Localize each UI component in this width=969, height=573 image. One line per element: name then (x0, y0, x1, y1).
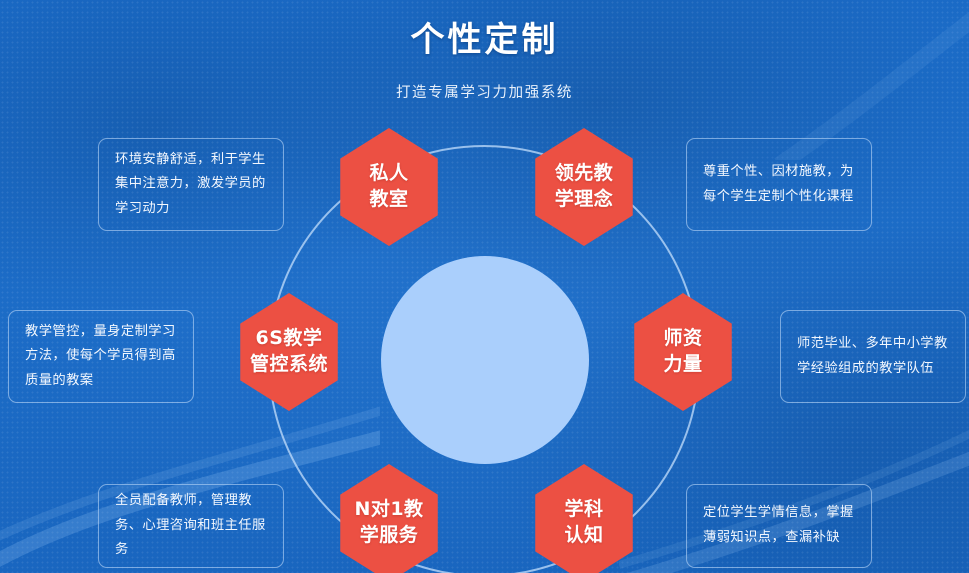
center-disc (381, 256, 589, 464)
info-box-leading-teaching-philosophy: 尊重个性、因材施教，为每个学生定制个性化课程 (686, 138, 872, 231)
hexagon-label: 师资 力量 (663, 326, 702, 377)
info-box-text: 全员配备教师，管理教务、心理咨询和班主任服务 (115, 489, 267, 563)
hexagon-label: 领先教 学理念 (555, 161, 614, 212)
info-box-faculty-strength: 师范毕业、多年中小学教学经验组成的教学队伍 (780, 310, 966, 403)
info-box-text: 教学管控，量身定制学习方法，使每个学员得到高质量的教案 (25, 320, 177, 394)
info-box-subject-cognition: 定位学生学情信息，掌握薄弱知识点，查漏补缺 (686, 484, 872, 568)
page-title: 个性定制 (0, 12, 969, 61)
info-box-6s-teaching-control-system: 教学管控，量身定制学习方法，使每个学员得到高质量的教案 (8, 310, 194, 403)
hexagon-label: 6S教学 管控系统 (250, 326, 328, 377)
info-box-text: 师范毕业、多年中小学教学经验组成的教学队伍 (797, 332, 949, 381)
info-box-text: 尊重个性、因材施教，为每个学生定制个性化课程 (703, 160, 855, 209)
info-box-text: 环境安静舒适，利于学生集中注意力，激发学员的学习动力 (115, 148, 267, 222)
hexagon-label: N对1教 学服务 (354, 497, 423, 548)
infographic-stage: 个性定制 打造专属学习力加强系统 私人 教室 领先教 学理念 6S教学 管控系统… (0, 0, 969, 573)
hexagon-label: 私人 教室 (369, 161, 408, 212)
info-box-text: 定位学生学情信息，掌握薄弱知识点，查漏补缺 (703, 501, 855, 550)
info-box-private-classroom: 环境安静舒适，利于学生集中注意力，激发学员的学习动力 (98, 138, 284, 231)
page-subtitle: 打造专属学习力加强系统 (0, 81, 969, 102)
header: 个性定制 打造专属学习力加强系统 (0, 0, 969, 102)
hexagon-label: 学科 认知 (564, 497, 603, 548)
info-box-n-to-1-teaching-service: 全员配备教师，管理教务、心理咨询和班主任服务 (98, 484, 284, 568)
